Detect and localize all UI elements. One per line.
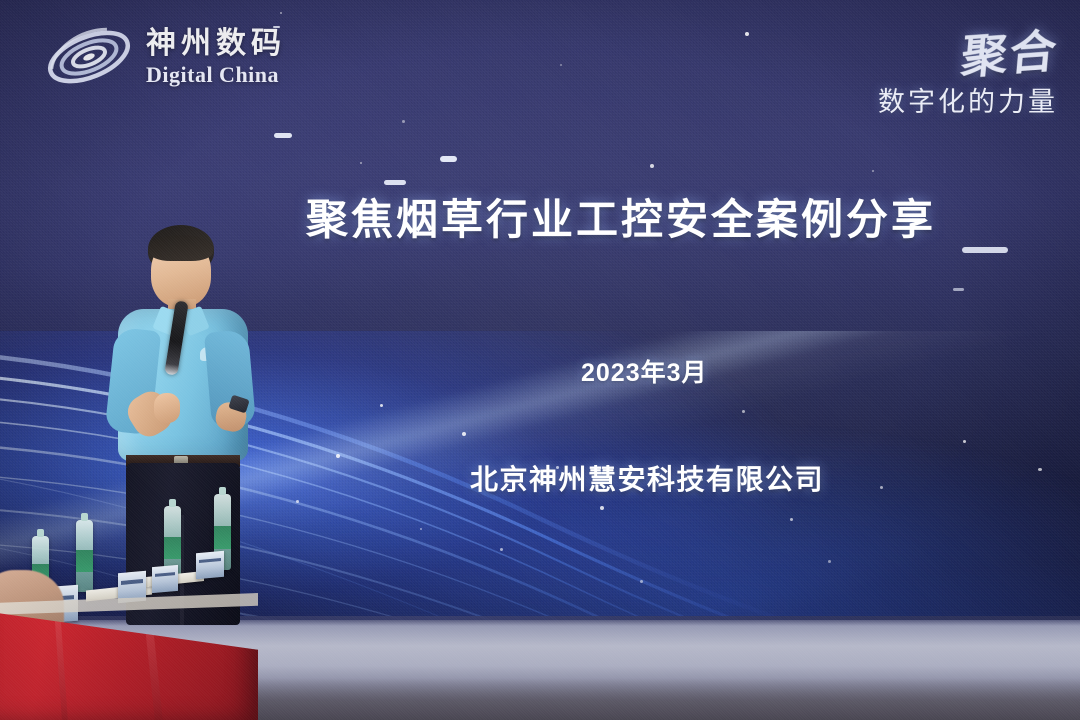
table-drape-fold — [145, 628, 163, 720]
brand-name-cn: 神州数码 — [146, 29, 286, 59]
water-bottle — [76, 520, 93, 592]
conference-photo: 神州数码 Digital China 聚合 数字化的力量 聚焦烟草行业工控安全案… — [0, 0, 1080, 720]
table-drape-fold — [54, 610, 68, 720]
slide-company: 北京神州慧安科技有限公司 — [470, 458, 824, 498]
name-placard — [152, 565, 178, 593]
speaker-hand-left — [154, 393, 180, 423]
slide-date: 2023年3月 — [581, 353, 708, 389]
event-calligraphy: 聚合 — [959, 15, 1062, 88]
speaker-figure — [96, 225, 272, 625]
speaker-hair-front — [149, 235, 213, 261]
event-mark: 聚合 数字化的力量 — [878, 18, 1058, 119]
name-placard — [196, 551, 224, 579]
slide-title: 聚焦烟草行业工控安全案例分享 — [306, 186, 936, 247]
brand-text: 神州数码 Digital China — [146, 29, 286, 86]
brand-lockup: 神州数码 Digital China — [44, 18, 286, 96]
galaxy-swirl-icon — [44, 18, 134, 96]
brand-name-en: Digital China — [146, 64, 286, 86]
event-calligraphy-wrap: 聚合 — [878, 18, 1058, 84]
